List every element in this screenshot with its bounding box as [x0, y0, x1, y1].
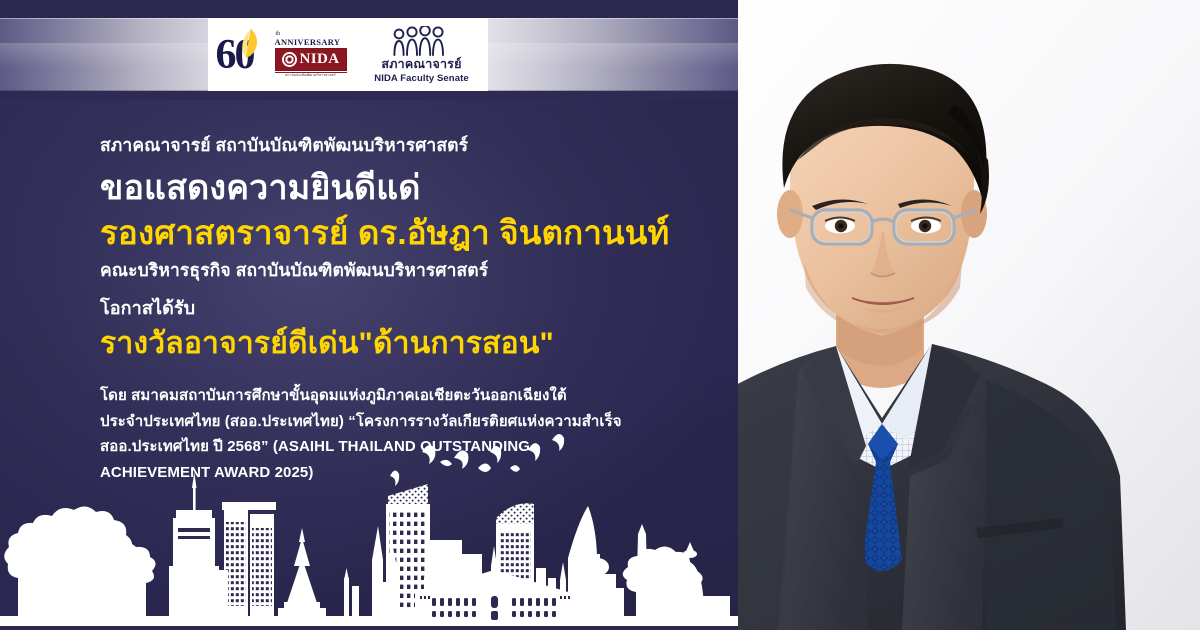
- award-title: รางวัลอาจารย์ดีเด่น"ด้านการสอน": [100, 323, 700, 365]
- twin-residential-towers: [212, 502, 276, 616]
- award-detail-line-4: ACHIEVEMENT AWARD 2025): [100, 460, 660, 486]
- leaf-icon: [238, 28, 259, 58]
- sharp-thin-towers: [372, 526, 398, 620]
- metallic-header-bar: 60 th ANNIVERSARY NIDA สถาบันบั: [0, 18, 738, 91]
- award-detail-line-1: โดย สมาคมสถาบันการศึกษาขั้นอุดมแห่งภูมิภ…: [100, 383, 660, 409]
- temple-prang-spire: [278, 528, 326, 616]
- tree-cluster-right: [623, 546, 730, 620]
- nida-brand-box: NIDA: [275, 48, 347, 71]
- tree-cluster-left: [4, 506, 155, 616]
- anniversary-word: ANNIVERSARY: [275, 37, 341, 47]
- obelisk-spire: [636, 524, 648, 616]
- curved-crown-tower: [496, 503, 556, 616]
- tall-thin-spire-pair: [392, 524, 400, 616]
- bottom-edge-line: [0, 626, 738, 630]
- award-detail-line-2: ประจำประเทศไทย (สออ.ประเทศไทย) “โครงการร…: [100, 409, 660, 435]
- award-detail-line-3: สออ.ประเทศไทย ปี 2568” (ASAIHL THAILAND …: [100, 434, 660, 460]
- announcement-text-block: สภาคณาจารย์ สถาบันบัณฑิตพัฒนบริหารศาสตร์…: [100, 132, 700, 485]
- top-dark-strip: [0, 0, 738, 18]
- logo-plate: 60 th ANNIVERSARY NIDA สถาบันบั: [208, 18, 488, 91]
- senate-thai-label: สภาคณาจารย์: [381, 57, 461, 72]
- organization-line: สภาคณาจารย์ สถาบันบัณฑิตพัฒนบริหารศาสตร์: [100, 132, 700, 158]
- sixty-numeral-wrap: 60: [216, 32, 274, 78]
- grand-palace-building: [405, 546, 587, 620]
- award-detail-paragraph: โดย สมาคมสถาบันการศึกษาขั้นอุดมแห่งภูมิภ…: [100, 383, 660, 485]
- nida-brand-text: NIDA: [300, 52, 340, 67]
- nida-target-emblem: [282, 52, 297, 67]
- honoree-affiliation: คณะบริหารธุรกิจ สถาบันบัณฑิตพัฒนบริหารศา…: [100, 257, 700, 283]
- below-header-dark-strip: [0, 91, 738, 100]
- congratulation-banner: สภาคณาจารย์ สถาบันบัณฑิตพัฒนบริหารศาสตร์…: [0, 0, 1200, 630]
- nida-logo-right: th ANNIVERSARY NIDA สถาบันบัณฑิตพัฒนบริห…: [275, 31, 347, 79]
- nida-60th-anniversary-logo: 60 th ANNIVERSARY NIDA สถาบันบั: [216, 29, 347, 81]
- honoree-name: รองศาสตราจารย์ ดร.อัษฎา จินตกานนท์: [100, 210, 700, 256]
- left-navy-panel: สภาคณาจารย์ สถาบันบัณฑิตพัฒนบริหารศาสตร์…: [0, 0, 738, 630]
- congratulations-headline: ขอแสดงความยินดีแด่: [100, 164, 700, 212]
- nida-thai-subtitle: สถาบันบัณฑิตพัฒนบริหารศาสตร์: [275, 72, 347, 79]
- portrait-area: [738, 0, 1200, 630]
- office-tower-dotted-facade: [374, 484, 482, 616]
- chedi-stupa: [670, 542, 710, 616]
- senate-english-label: NIDA Faculty Senate: [374, 73, 468, 84]
- occasion-label: โอกาสได้รับ: [100, 295, 700, 322]
- domed-tower: [572, 554, 624, 620]
- small-spire-pair: [344, 568, 359, 616]
- sail-shaped-tower: [568, 506, 610, 616]
- nida-faculty-senate-logo: สภาคณาจารย์ NIDA Faculty Senate: [363, 26, 481, 84]
- honoree-portrait-photo: [738, 0, 1200, 630]
- people-group-icon: [390, 26, 454, 56]
- baiyoke-style-spire-tower: [169, 472, 219, 616]
